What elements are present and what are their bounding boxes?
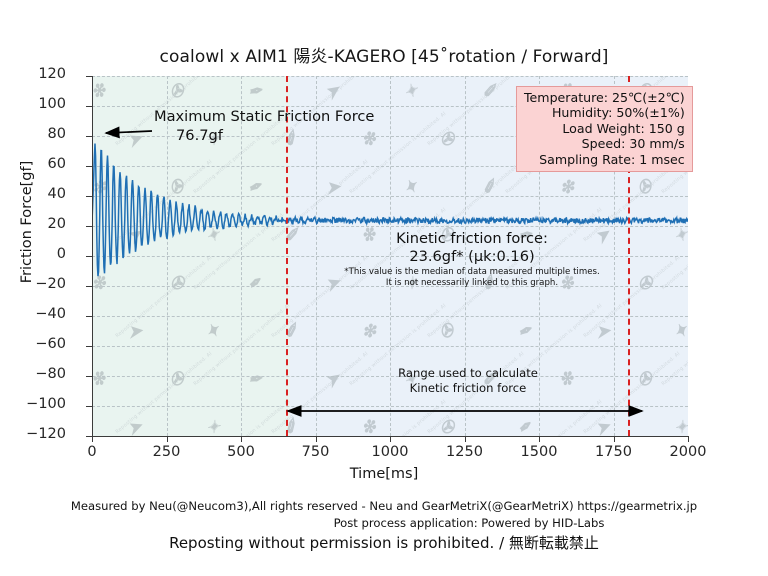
x-tick-label: 250 [127,444,207,460]
info-speed: Speed: 30 mm/s [524,136,685,151]
y-tick-label: 100 [0,96,66,112]
y-tick [86,316,92,317]
x-tick [465,436,466,442]
range-annotation: Range used to calculate Kinetic friction… [358,366,578,395]
y-tick [86,166,92,167]
y-tick [86,286,92,287]
kinetic-footnote-2: It is not necessarily linked to this gra… [327,278,617,289]
kinetic-label: Kinetic friction force: [327,230,617,248]
x-tick [316,436,317,442]
y-tick-label: 120 [0,66,66,82]
x-tick-label: 750 [276,444,356,460]
x-tick-label: 0 [52,444,132,460]
footer-notice: Reposting without permission is prohibit… [0,532,768,555]
info-load-weight: Load Weight: 150 g [524,121,685,136]
x-axis-label: Time[ms] [0,466,768,482]
x-tick-label: 1250 [425,444,505,460]
y-tick-label: −80 [0,366,66,382]
x-tick-label: 1000 [350,444,430,460]
max-static-friction-annotation: Maximum Static Friction Force 76.7gf [154,108,374,146]
y-axis-label: Friction Force[gf] [19,122,35,322]
info-sampling-rate: Sampling Rate: 1 msec [524,152,685,167]
y-tick [86,376,92,377]
x-tick-label: 2000 [648,444,728,460]
y-tick-label: −60 [0,336,66,352]
conditions-info-box: Temperature: 25℃(±2℃) Humidity: 50%(±1%)… [516,86,693,172]
y-tick [86,256,92,257]
range-line-2: Kinetic friction force [358,381,578,396]
kinetic-friction-annotation: Kinetic friction force: 23.6gf* (μk:0.16… [327,230,617,289]
y-tick [86,226,92,227]
y-tick [86,196,92,197]
info-temperature: Temperature: 25℃(±2℃) [524,90,685,105]
info-humidity: Humidity: 50%(±1%) [524,105,685,120]
x-tick [167,436,168,442]
y-tick [86,406,92,407]
y-tick [86,106,92,107]
footer: Measured by Neu(@Neucom3),All rights res… [0,498,768,555]
y-tick [86,346,92,347]
kinetic-footnote-1: *This value is the median of data measur… [327,267,617,278]
y-axis [92,76,93,436]
page-title: coalowl x AIM1 陽炎-KAGERO [45˚rotation / … [0,42,768,67]
x-tick-label: 1750 [574,444,654,460]
range-line-1: Range used to calculate [358,366,578,381]
x-tick [688,436,689,442]
y-tick [86,136,92,137]
y-tick-label: −100 [0,396,66,412]
x-tick [241,436,242,442]
max-static-value: 76.7gf [154,127,374,146]
y-tick [86,76,92,77]
x-tick [92,436,93,442]
x-tick-label: 1500 [499,444,579,460]
kinetic-value: 23.6gf* (μk:0.16) [327,248,617,267]
x-tick-label: 500 [201,444,281,460]
footer-credit: Measured by Neu(@Neucom3),All rights res… [0,498,768,515]
footer-process: Post process application: Powered by HID… [0,515,768,532]
x-tick [390,436,391,442]
max-static-label: Maximum Static Friction Force [154,108,374,125]
x-tick [614,436,615,442]
y-tick-label: −120 [0,426,66,442]
x-tick [539,436,540,442]
chart-figure: coalowl x AIM1 陽炎-KAGERO [45˚rotation / … [0,0,768,576]
